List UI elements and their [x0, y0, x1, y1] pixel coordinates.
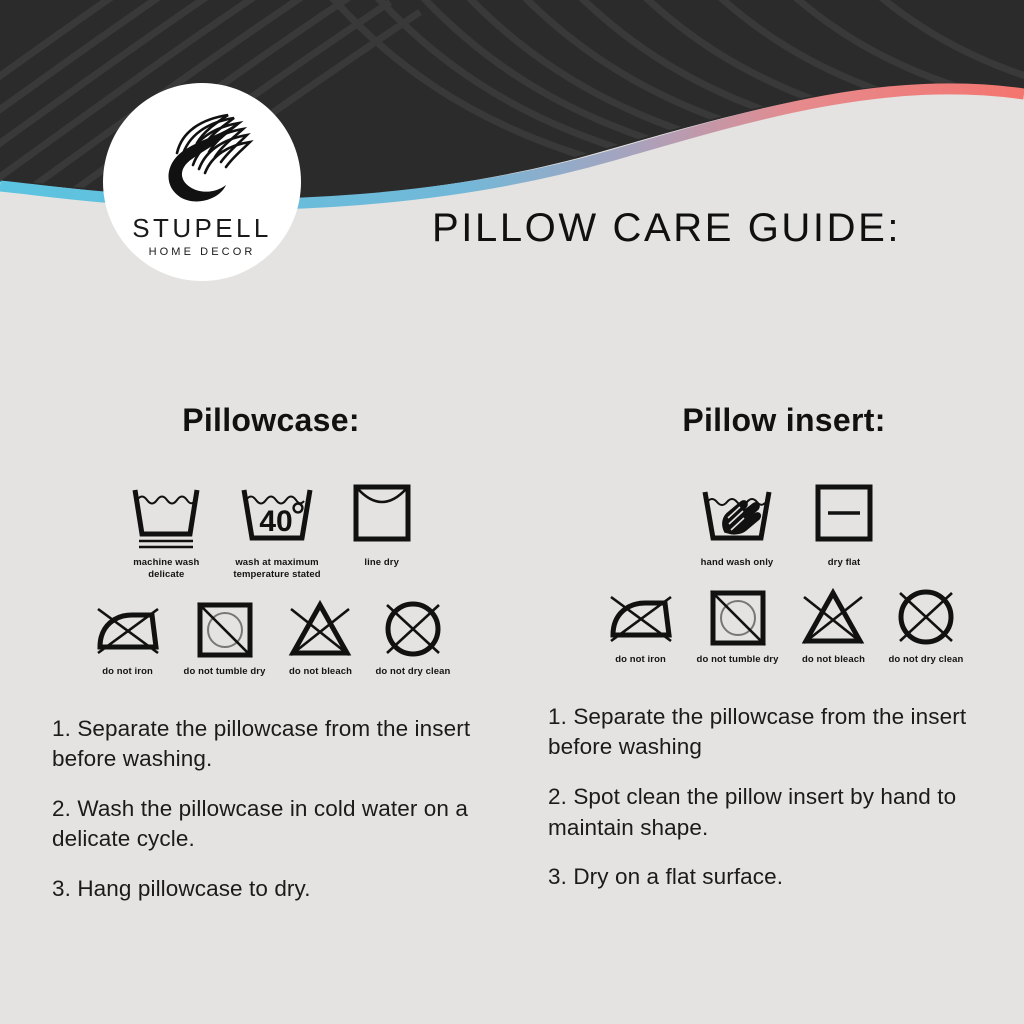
symbol-label: do not tumble dry [184, 666, 266, 678]
symbol-do-not-bleach: do not bleach [798, 587, 868, 666]
symbol-do-not-iron: do not iron [92, 599, 164, 678]
pillowcase-column: Pillowcase: machine wash delicate [40, 404, 520, 905]
step-item: 2. Wash the pillowcase in cold water on … [52, 794, 502, 855]
brand-logo-badge: STUPELL HOME DECOR [103, 83, 301, 281]
symbol-do-not-iron: do not iron [605, 587, 677, 666]
symbol-label: line dry [364, 557, 399, 569]
pillowcase-steps: 1. Separate the pillowcase from the inse… [52, 714, 502, 905]
line-dry-icon [349, 478, 415, 550]
page-title: PILLOW CARE GUIDE: [432, 206, 901, 251]
symbol-label: do not bleach [802, 654, 865, 666]
step-item: 1. Separate the pillowcase from the inse… [548, 702, 988, 763]
pillow-insert-steps: 1. Separate the pillowcase from the inse… [548, 702, 988, 893]
symbol-do-not-tumble-dry: do not tumble dry [184, 599, 266, 678]
do-not-dry-clean-icon [380, 599, 446, 659]
symbol-label: do not tumble dry [697, 654, 779, 666]
pillow-insert-heading: Pillow insert: [558, 404, 1010, 436]
step-item: 3. Dry on a flat surface. [548, 862, 988, 893]
symbol-line-dry: line dry [349, 478, 415, 569]
symbol-do-not-tumble-dry: do not tumble dry [697, 587, 779, 666]
machine-wash-delicate-icon [127, 478, 205, 550]
do-not-tumble-dry-icon [192, 599, 258, 659]
do-not-dry-clean-icon [893, 587, 959, 647]
do-not-bleach-icon [798, 587, 868, 647]
pillow-insert-column: Pillow insert: hand wash only [540, 404, 1010, 893]
wash-40-degrees-icon: 40 [236, 478, 318, 550]
brand-name: STUPELL [132, 215, 271, 241]
pillowcase-symbols-row-1: machine wash delicate 40 wash at maximum… [22, 478, 520, 581]
symbol-hand-wash-only: hand wash only [697, 478, 777, 569]
symbol-do-not-dry-clean: do not dry clean [375, 599, 450, 678]
pillowcase-heading: Pillowcase: [22, 404, 520, 436]
symbol-label: dry flat [828, 557, 860, 569]
do-not-iron-icon [605, 587, 677, 647]
step-item: 2. Spot clean the pillow insert by hand … [548, 782, 988, 843]
symbol-label: machine wash delicate [133, 557, 199, 581]
stupell-swoosh-logo-icon [142, 101, 262, 213]
do-not-tumble-dry-icon [705, 587, 771, 647]
do-not-bleach-icon [285, 599, 355, 659]
symbol-wash-40-degrees: 40 wash at maximum temperature stated [233, 478, 320, 581]
symbol-label: hand wash only [701, 557, 774, 569]
symbol-label: wash at maximum temperature stated [233, 557, 320, 581]
pillowcase-symbols-row-2: do not iron do not tumble dry [22, 599, 520, 678]
symbol-do-not-dry-clean: do not dry clean [888, 587, 963, 666]
brand-tagline: HOME DECOR [149, 247, 256, 258]
hand-wash-only-icon [697, 478, 777, 550]
symbol-do-not-bleach: do not bleach [285, 599, 355, 678]
step-item: 1. Separate the pillowcase from the inse… [52, 714, 502, 775]
symbol-label: do not dry clean [888, 654, 963, 666]
symbol-label: do not bleach [289, 666, 352, 678]
pillow-insert-symbols-row-1: hand wash only dry flat [564, 478, 1010, 569]
symbol-label: do not iron [615, 654, 666, 666]
symbol-machine-wash-delicate: machine wash delicate [127, 478, 205, 581]
care-guide-page: STUPELL HOME DECOR PILLOW CARE GUIDE: Pi… [0, 0, 1024, 1024]
do-not-iron-icon [92, 599, 164, 659]
svg-text:40: 40 [259, 505, 292, 538]
step-item: 3. Hang pillowcase to dry. [52, 874, 502, 905]
symbol-dry-flat: dry flat [811, 478, 877, 569]
pillow-insert-symbols-row-2: do not iron do not tumble dry [558, 587, 1010, 666]
dry-flat-icon [811, 478, 877, 550]
symbol-label: do not iron [102, 666, 153, 678]
symbol-label: do not dry clean [375, 666, 450, 678]
